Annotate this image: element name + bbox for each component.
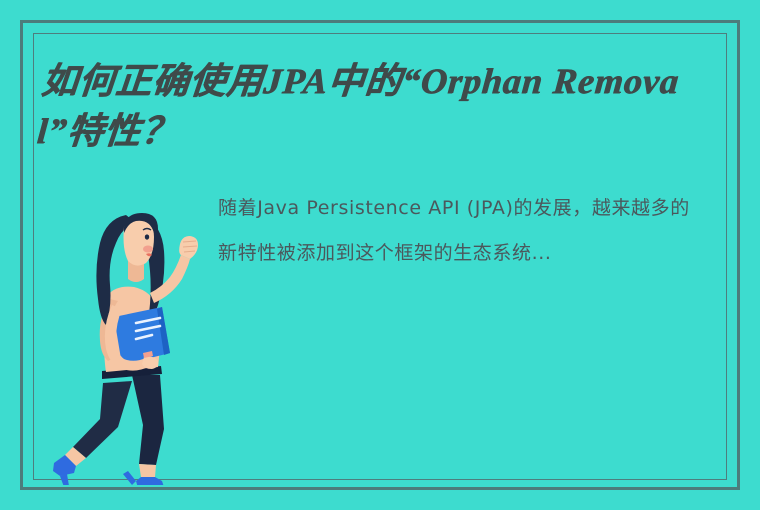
leg-front [132,375,164,465]
leg-back [73,381,132,458]
eye [145,234,149,239]
article-excerpt: 随着Java Persistence API (JPA)的发展，越来越多的新特性… [218,186,704,276]
heel-back [60,474,69,485]
shoe-front [136,477,164,485]
heel-front [123,471,136,485]
cheek-blush [143,246,153,253]
ankle-front [139,464,156,477]
walking-woman-illustration [40,175,220,485]
page-title: 如何正确使用JPA中的“Orphan Removal”特性？ [35,56,704,156]
article-cover-card: 如何正确使用JPA中的“Orphan Removal”特性？ 随着Java Pe… [0,0,760,510]
